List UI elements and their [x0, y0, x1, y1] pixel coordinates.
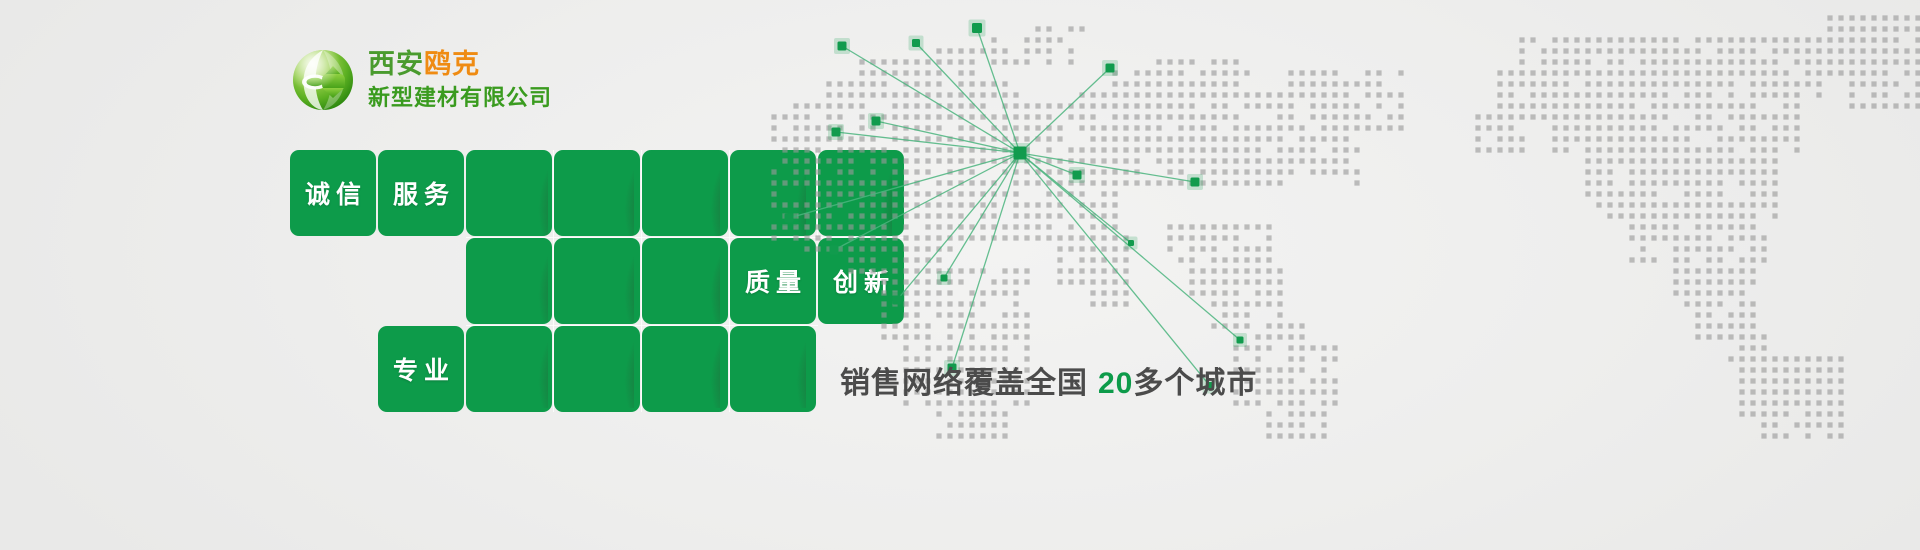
map-hub-node [1014, 147, 1027, 160]
mosaic-tile-服务: 服务 [378, 150, 464, 236]
logo-city-text: 西安 [368, 49, 424, 79]
mosaic-tile-专业: 专业 [378, 326, 464, 412]
map-connection-line [1020, 153, 1210, 386]
map-city-node [972, 23, 982, 33]
tagline-highlight-number: 20 [1098, 367, 1133, 400]
tagline-prefix: 销售网络覆盖全国 [840, 367, 1088, 400]
mosaic-tile-photo [642, 150, 728, 236]
mosaic-seam [641, 150, 642, 412]
map-city-node [912, 39, 920, 47]
map-city-node [832, 128, 841, 137]
map-connection-line [1020, 68, 1110, 153]
map-city-node [893, 296, 902, 305]
tagline-suffix: 多个城市 [1133, 367, 1257, 400]
map-city-node [838, 42, 847, 51]
map-city-node [1191, 178, 1200, 187]
mosaic-tile-photo [554, 150, 640, 236]
map-city-node [941, 275, 948, 282]
mosaic-tile-label: 专业 [378, 326, 464, 412]
logo-wordmark: 西安鸥克 新型建材有限公司 [368, 51, 552, 109]
mosaic-tile-photo [642, 326, 728, 412]
logo-line-1: 西安鸥克 [368, 51, 552, 78]
green-globe-logo-icon [292, 48, 354, 112]
map-connection-line [1020, 153, 1195, 182]
mosaic-seam [553, 150, 554, 412]
mosaic-tile-诚信: 诚信 [290, 150, 376, 236]
map-city-node [785, 214, 794, 223]
logo-line-2: 新型建材有限公司 [368, 87, 552, 109]
map-city-node [830, 246, 839, 255]
mosaic-tile-photo [554, 326, 640, 412]
map-city-node [1237, 337, 1244, 344]
map-connection-line [897, 153, 1020, 300]
map-connection-line [977, 28, 1020, 153]
map-city-node [872, 117, 881, 126]
mosaic-tile-photo [466, 238, 552, 324]
company-logo[interactable]: 西安鸥克 新型建材有限公司 [292, 48, 552, 112]
map-city-node [1073, 171, 1082, 180]
map-city-node [1128, 240, 1134, 246]
sales-network-tagline: 销售网络覆盖全国20多个城市 [840, 358, 1257, 402]
mosaic-tile-label: 诚信 [290, 150, 376, 236]
mosaic-tile-photo [642, 238, 728, 324]
mosaic-tile-label: 服务 [378, 150, 464, 236]
logo-brand-text: 鸥克 [424, 49, 480, 79]
promo-banner: 西安鸥克 新型建材有限公司 诚信服务质量创新专业 销售网络覆盖全国20多个城市 [0, 0, 1920, 550]
mosaic-tile-photo [554, 238, 640, 324]
map-city-node [1106, 64, 1115, 73]
mosaic-tile-photo [466, 150, 552, 236]
mosaic-tile-photo [466, 326, 552, 412]
